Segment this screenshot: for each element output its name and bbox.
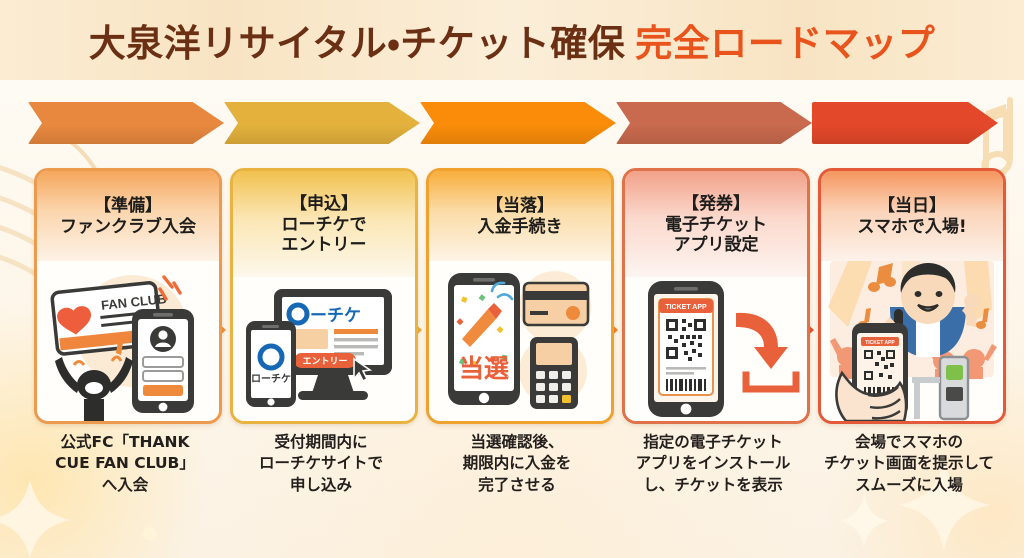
step-1-caption-line-2: CUE FAN CLUB」	[25, 453, 225, 474]
step-4-heading: 【発券】 電子チケット アプリ設定	[625, 171, 807, 277]
step-2-caption: 受付期間内に ローチケサイトで 申し込み	[221, 432, 421, 496]
page-title-main: 大泉洋リサイタル・チケット確保	[89, 22, 626, 65]
page-title: 大泉洋リサイタル・チケット確保完全ロードマップ	[89, 13, 936, 67]
caption-row: 公式FC「THANK CUE FAN CLUB」 へ入会 受付期間内に ローチケ…	[0, 432, 1024, 542]
flow-arrow-ribbon	[0, 96, 1024, 150]
step-1-heading: 【準備】 ファンクラブ入会	[37, 171, 219, 261]
step-4-title-line2: アプリ設定	[674, 235, 759, 256]
arrow-step-5	[812, 102, 998, 144]
step-5-illustration: TICKET APP	[821, 261, 1003, 421]
step-3-illustration: 当選	[429, 261, 611, 421]
step-2-caption-line-1: 受付期間内に	[221, 432, 421, 453]
step-3-caption-line-3: 完了させる	[417, 475, 617, 496]
arrow-step-4	[616, 102, 812, 144]
step-card-2[interactable]: 【申込】 ローチケで エントリー ーチケ	[230, 168, 418, 424]
step-1-illustration: FAN CLUB	[37, 261, 219, 421]
step-1-title: ファンクラブ入会	[60, 217, 196, 238]
svg-text:ーチケ: ーチケ	[310, 306, 361, 326]
step-4-tag: 【発券】	[682, 194, 750, 215]
step-4-caption: 指定の電子チケット アプリをインストール し、チケットを表示	[613, 432, 813, 496]
step-3-heading: 【当落】 入金手続き	[429, 171, 611, 261]
step-3-caption-line-2: 期限内に入金を	[417, 453, 617, 474]
step-card-5[interactable]: 【当日】 スマホで入場!	[818, 168, 1006, 424]
arrow-step-3	[420, 102, 616, 144]
svg-text:当選: 当選	[459, 354, 509, 383]
step-4-caption-line-1: 指定の電子チケット	[613, 432, 813, 453]
step-2-title-line2: エントリー	[282, 235, 367, 256]
step-5-caption-line-3: スムーズに入場	[809, 475, 1009, 496]
step-1-tag: 【準備】	[94, 196, 162, 217]
svg-text:ローチケ: ローチケ	[251, 373, 291, 385]
step-5-tag: 【当日】	[878, 196, 946, 217]
step-4-caption-line-3: し、チケットを表示	[613, 475, 813, 496]
title-bar: 大泉洋リサイタル・チケット確保完全ロードマップ	[0, 0, 1024, 80]
step-1-caption-line-1: 公式FC「THANK	[25, 432, 225, 453]
step-card-row: 【準備】 ファンクラブ入会 FAN CLUB	[0, 168, 1024, 420]
step-card-3[interactable]: 【当落】 入金手続き	[426, 168, 614, 424]
step-4-caption-line-2: アプリをインストール	[613, 453, 813, 474]
svg-text:エントリー: エントリー	[302, 356, 347, 367]
step-2-title: ローチケで	[282, 215, 367, 236]
step-card-4[interactable]: 【発券】 電子チケット アプリ設定 TICKET APP	[622, 168, 810, 424]
step-3-caption: 当選確認後、 期限内に入金を 完了させる	[417, 432, 617, 496]
svg-text:TICKET APP: TICKET APP	[665, 304, 707, 311]
step-card-1[interactable]: 【準備】 ファンクラブ入会 FAN CLUB	[34, 168, 222, 424]
roadmap-infographic: 大泉洋リサイタル・チケット確保完全ロードマップ 【準備】 ファンクラブ入会	[0, 0, 1024, 558]
page-title-accent: 完全ロードマップ	[635, 22, 935, 65]
step-2-caption-line-2: ローチケサイトで	[221, 453, 421, 474]
step-2-heading: 【申込】 ローチケで エントリー	[233, 171, 415, 277]
step-1-caption: 公式FC「THANK CUE FAN CLUB」 へ入会	[25, 432, 225, 496]
step-4-title: 電子チケット	[665, 215, 767, 236]
step-2-caption-line-3: 申し込み	[221, 475, 421, 496]
svg-text:TICKET APP: TICKET APP	[865, 340, 895, 346]
step-3-caption-line-1: 当選確認後、	[417, 432, 617, 453]
step-5-heading: 【当日】 スマホで入場!	[821, 171, 1003, 261]
arrow-step-2	[224, 102, 420, 144]
step-3-title: 入金手続き	[478, 217, 563, 238]
step-5-caption-line-2: チケット画面を提示して	[809, 453, 1009, 474]
step-3-tag: 【当落】	[486, 196, 554, 217]
step-2-illustration: ーチケ エントリー	[233, 277, 415, 421]
step-5-caption: 会場でスマホの チケット画面を提示して スムーズに入場	[809, 432, 1009, 496]
download-icon	[736, 313, 796, 389]
arrow-step-1	[28, 102, 224, 144]
step-2-tag: 【申込】	[290, 194, 358, 215]
step-5-caption-line-1: 会場でスマホの	[809, 432, 1009, 453]
step-5-title: スマホで入場!	[857, 217, 966, 238]
step-1-caption-line-3: へ入会	[25, 475, 225, 496]
step-4-illustration: TICKET APP	[625, 277, 807, 421]
